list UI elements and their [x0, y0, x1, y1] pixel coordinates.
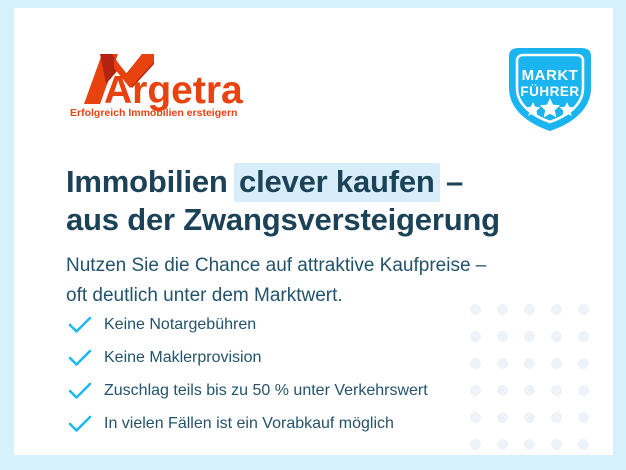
check-icon — [68, 381, 92, 401]
decorative-dot — [524, 304, 535, 315]
decorative-dot — [470, 439, 481, 450]
decorative-dot — [470, 385, 481, 396]
headline-highlight: clever kaufen — [234, 163, 440, 202]
decorative-dot — [497, 358, 508, 369]
badge-line2: FÜHRER — [520, 84, 579, 99]
list-item: Zuschlag teils bis zu 50 % unter Verkehr… — [68, 374, 428, 407]
decorative-dot — [470, 412, 481, 423]
list-item: In vielen Fällen ist ein Vorabkauf mögli… — [68, 407, 428, 440]
decorative-dot — [497, 304, 508, 315]
benefit-label: In vielen Fällen ist ein Vorabkauf mögli… — [104, 414, 394, 434]
decorative-dot — [497, 385, 508, 396]
decorative-dot — [551, 331, 562, 342]
decorative-dot — [551, 412, 562, 423]
check-icon — [68, 348, 92, 368]
argetra-logo[interactable]: Argetra Erfolgreich Immobilien ersteiger… — [70, 48, 260, 118]
benefit-label: Keine Notargebühren — [104, 315, 256, 335]
benefit-label: Keine Maklerprovision — [104, 348, 261, 368]
content-card: Argetra Erfolgreich Immobilien ersteiger… — [14, 8, 613, 455]
subheadline-line-1: Nutzen Sie die Chance auf attraktive Kau… — [66, 255, 486, 276]
decorative-dot — [551, 385, 562, 396]
logo-tagline: Erfolgreich Immobilien ersteigern — [70, 107, 237, 118]
check-icon — [68, 315, 92, 335]
decorative-dot — [551, 358, 562, 369]
headline: Immobilien clever kaufen – aus der Zwang… — [66, 163, 500, 239]
headline-part-1: Immobilien — [66, 164, 236, 199]
decorative-dot — [578, 385, 589, 396]
decorative-dot — [497, 331, 508, 342]
headline-line-1: Immobilien clever kaufen – — [66, 164, 463, 199]
logo-wordmark: Argetra — [104, 69, 243, 112]
decorative-dot — [578, 412, 589, 423]
subheadline-line-2: oft deutlich unter dem Marktwert. — [66, 285, 343, 306]
decorative-dot — [551, 439, 562, 450]
argetra-logo-svg: Argetra Erfolgreich Immobilien ersteiger… — [70, 48, 260, 118]
markt-fuehrer-badge: MARKT FÜHRER — [501, 44, 599, 134]
check-icon — [68, 414, 92, 434]
decorative-dot — [578, 304, 589, 315]
dot-grid-decoration — [470, 304, 605, 455]
decorative-dot — [497, 439, 508, 450]
decorative-dot — [551, 304, 562, 315]
decorative-dot — [578, 358, 589, 369]
subheadline: Nutzen Sie die Chance auf attraktive Kau… — [66, 251, 486, 311]
benefit-label: Zuschlag teils bis zu 50 % unter Verkehr… — [104, 381, 428, 401]
decorative-dot — [524, 385, 535, 396]
decorative-dot — [524, 358, 535, 369]
decorative-dot — [497, 412, 508, 423]
list-item: Keine Notargebühren — [68, 308, 428, 341]
decorative-dot — [470, 331, 481, 342]
decorative-dot — [524, 412, 535, 423]
headline-part-2: – — [438, 164, 463, 199]
decorative-dot — [524, 439, 535, 450]
decorative-dot — [470, 358, 481, 369]
decorative-dot — [578, 439, 589, 450]
decorative-dot — [524, 331, 535, 342]
headline-line-2: aus der Zwangsversteigerung — [66, 202, 500, 237]
list-item: Keine Maklerprovision — [68, 341, 428, 374]
decorative-dot — [578, 331, 589, 342]
shield-badge-icon: MARKT FÜHRER — [501, 44, 599, 134]
benefits-list: Keine Notargebühren Keine Maklerprovisio… — [68, 308, 428, 440]
ad-banner: Argetra Erfolgreich Immobilien ersteiger… — [0, 0, 626, 470]
badge-line1: MARKT — [522, 67, 579, 84]
